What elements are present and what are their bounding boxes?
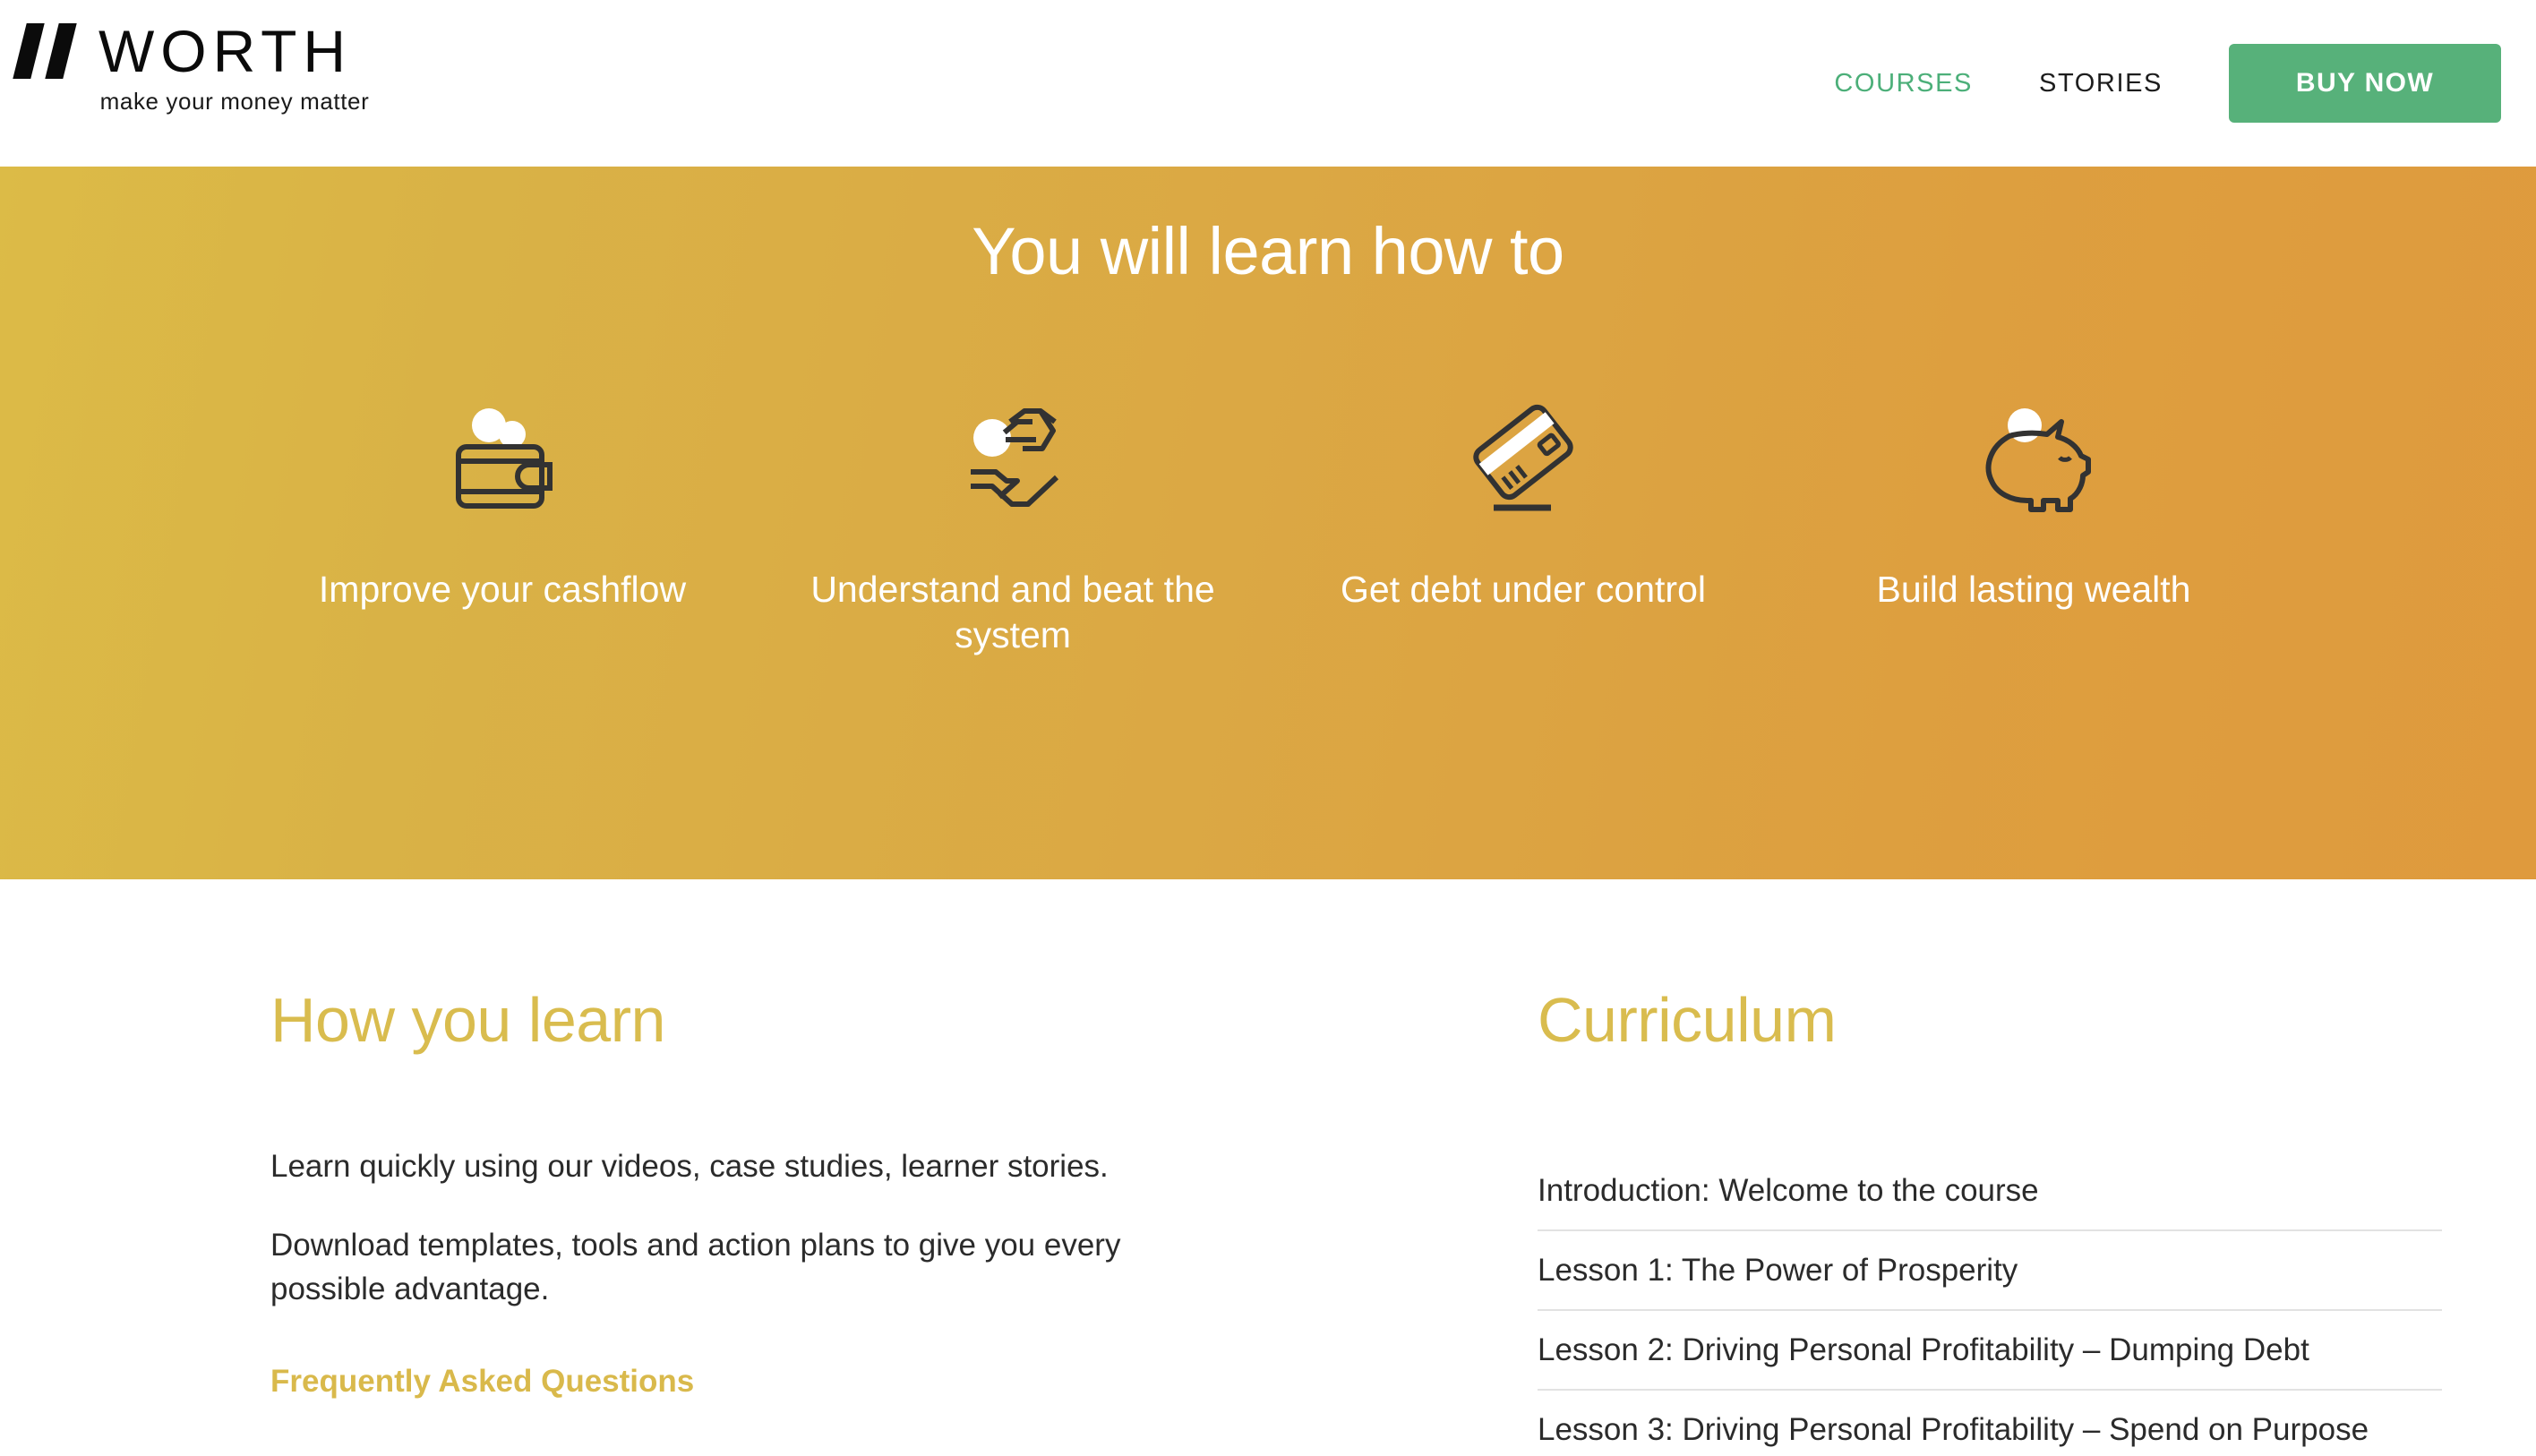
curriculum-title: Curriculum <box>1538 989 2536 1051</box>
learn-paragraph: Download templates, tools and action pla… <box>270 1223 1175 1312</box>
brand-logo[interactable]: WORTH make your money matter <box>20 23 450 116</box>
hero-title: You will learn how to <box>0 167 2536 289</box>
buy-now-button[interactable]: BUY NOW <box>2229 44 2501 123</box>
feature-label: Build lasting wealth <box>1877 567 2191 612</box>
feature-item-system: Understand and beat the system <box>758 400 1268 658</box>
main-navigation: COURSES STORIES BUY NOW <box>1834 0 2536 167</box>
feature-label: Get debt under control <box>1341 567 1706 612</box>
learn-paragraph: Learn quickly using our videos, case stu… <box>270 1144 1175 1189</box>
double-slash-icon <box>20 23 84 79</box>
brand-wordmark: WORTH <box>99 23 352 79</box>
nav-item-courses[interactable]: COURSES <box>1834 69 1973 98</box>
curriculum-item[interactable]: Introduction: Welcome to the course <box>1538 1152 2442 1231</box>
curriculum-item[interactable]: Lesson 1: The Power of Prosperity <box>1538 1231 2442 1311</box>
site-header: WORTH make your money matter COURSES STO… <box>0 0 2536 167</box>
how-you-learn-body: Learn quickly using our videos, case stu… <box>270 1144 1269 1400</box>
brand-tagline: make your money matter <box>20 88 450 116</box>
how-you-learn-title: How you learn <box>270 989 1269 1051</box>
credit-card-icon <box>1465 400 1581 517</box>
piggy-bank-icon <box>1975 400 2092 517</box>
wallet-with-coins-icon <box>444 400 561 517</box>
main-content: How you learn Learn quickly using our vi… <box>0 879 2536 1456</box>
feature-item-cashflow: Improve your cashflow <box>247 400 758 658</box>
feature-list: Improve your cashflow Understand and bea… <box>0 400 2536 658</box>
curriculum-section: Curriculum Introduction: Welcome to the … <box>1538 989 2536 1456</box>
hero-banner: You will learn how to Improve your cashf… <box>0 167 2536 879</box>
faq-link[interactable]: Frequently Asked Questions <box>270 1364 694 1400</box>
curriculum-list: Introduction: Welcome to the course Less… <box>1538 1152 2442 1456</box>
feature-label: Improve your cashflow <box>319 567 686 612</box>
feature-label: Understand and beat the system <box>793 567 1232 658</box>
nav-item-stories[interactable]: STORIES <box>2039 69 2163 98</box>
curriculum-item[interactable]: Lesson 3: Driving Personal Profitability… <box>1538 1391 2442 1456</box>
hands-with-coin-icon <box>955 400 1071 517</box>
curriculum-item[interactable]: Lesson 2: Driving Personal Profitability… <box>1538 1311 2442 1391</box>
how-you-learn-section: How you learn Learn quickly using our vi… <box>270 989 1269 1456</box>
feature-item-wealth: Build lasting wealth <box>1778 400 2289 658</box>
feature-item-debt: Get debt under control <box>1268 400 1778 658</box>
